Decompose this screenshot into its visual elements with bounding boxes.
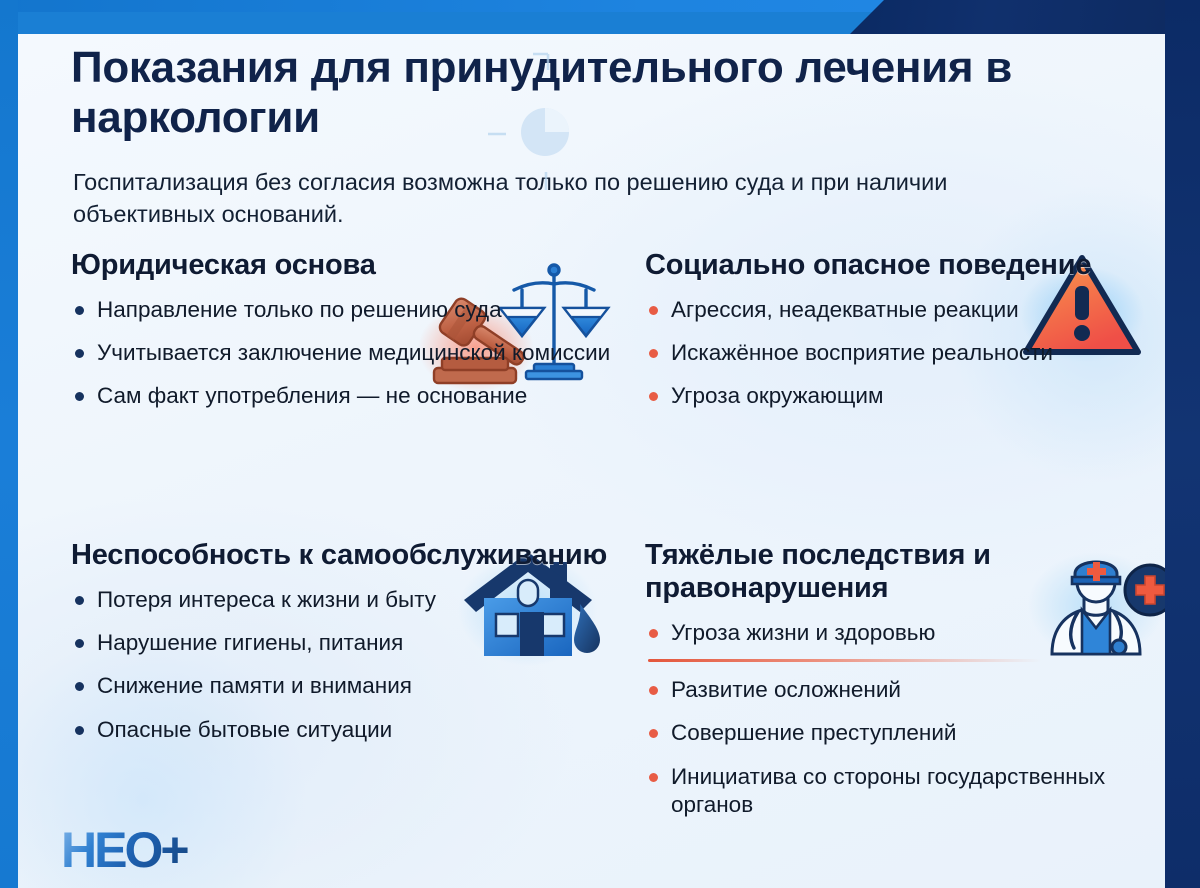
section-bullet-list: Агрессия, неадекватные реакции Искажённо… — [645, 296, 1165, 411]
list-item: Направление только по решению суда — [71, 296, 631, 324]
section-bullet-list: Развитие осложнений Совершение преступле… — [645, 676, 1165, 819]
list-item: Сам факт употребления — не основание — [71, 382, 631, 410]
section-self-care-inability: Неспособность к самообслуживанию Потеря … — [71, 539, 631, 744]
list-item: Опасные бытовые ситуации — [71, 716, 631, 744]
section-dangerous-behavior: Социально опасное поведение Агрессия, не… — [645, 249, 1165, 411]
top-navy-accent — [850, 0, 1200, 34]
section-severe-consequences: Тяжёлые последствия и правонарушения Угр… — [645, 539, 1165, 819]
right-navy-border — [1165, 0, 1200, 888]
list-item: Совершение преступлений — [645, 719, 1165, 747]
section-bullet-list: Потеря интереса к жизни и быту Нарушение… — [71, 586, 631, 744]
logo-text: НЕО — [61, 822, 160, 878]
section-bullet-list: Направление только по решению суда Учиты… — [71, 296, 631, 411]
list-item: Искажённое восприятие реальности — [645, 339, 1165, 367]
infographic-frame: Показания для принудительного лечения в … — [0, 0, 1200, 888]
left-blue-border — [0, 0, 18, 888]
logo-plus: + — [160, 822, 188, 878]
list-item: Нарушение гигиены, питания — [71, 629, 631, 657]
list-item: Инициатива со стороны государственных ор… — [645, 763, 1165, 820]
list-item: Развитие осложнений — [645, 676, 1165, 704]
list-item: Потеря интереса к жизни и быту — [71, 586, 631, 614]
content-card: Показания для принудительного лечения в … — [18, 34, 1165, 888]
section-heading: Неспособность к самообслуживанию — [71, 539, 631, 572]
section-heading: Социально опасное поведение — [645, 249, 1165, 282]
section-legal-basis: Юридическая основа Направление только по… — [71, 249, 631, 411]
list-item: Агрессия, неадекватные реакции — [645, 296, 1165, 324]
list-item-primary: Угроза жизни и здоровью — [645, 619, 1165, 647]
section-primary-bullet-list: Угроза жизни и здоровью — [645, 619, 1165, 647]
page-subtitle: Госпитализация без согласия возможна тол… — [73, 166, 1013, 231]
brand-logo: НЕО+ — [61, 825, 189, 875]
page-title: Показания для принудительного лечения в … — [71, 43, 1031, 143]
section-heading: Юридическая основа — [71, 249, 631, 282]
list-item: Угроза окружающим — [645, 382, 1165, 410]
section-divider — [648, 659, 1041, 662]
list-item: Снижение памяти и внимания — [71, 672, 631, 700]
list-item: Учитывается заключение медицинской комис… — [71, 339, 631, 367]
section-heading: Тяжёлые последствия и правонарушения — [645, 539, 1165, 605]
